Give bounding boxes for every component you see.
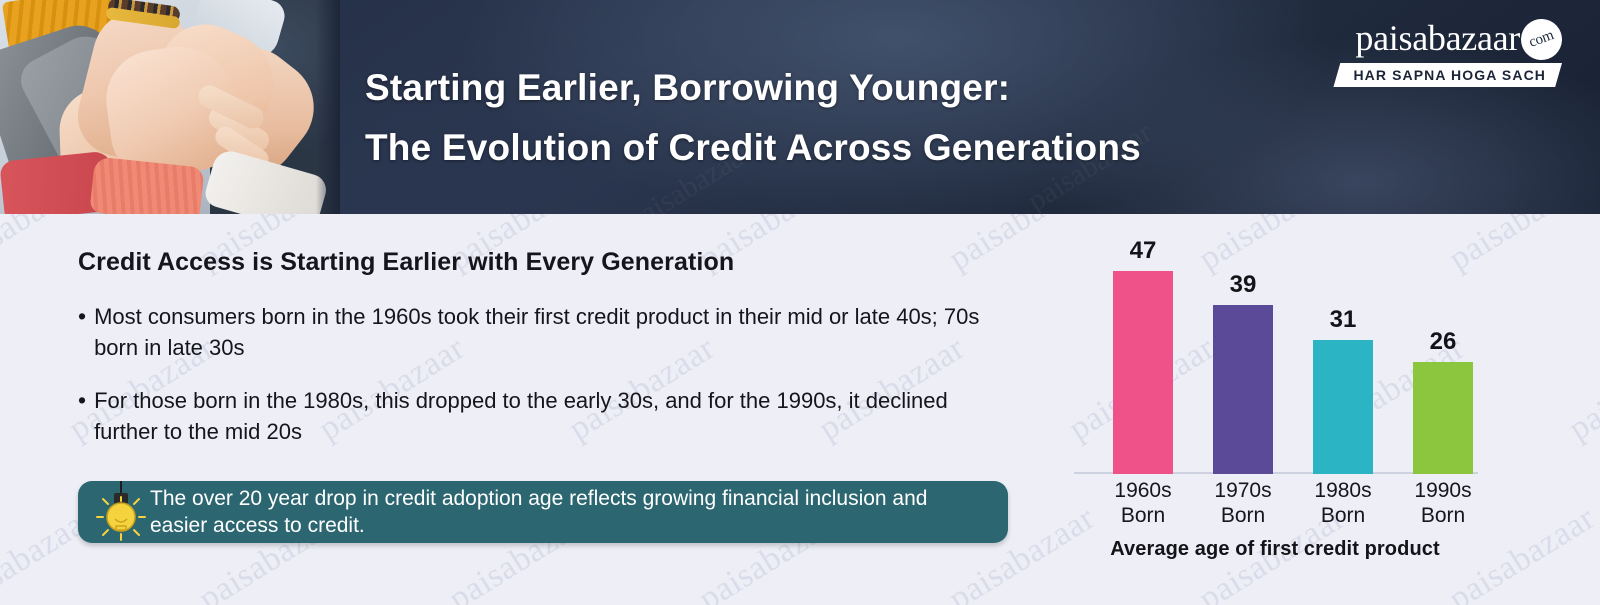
bar-value-label: 31 [1299,306,1387,334]
category-label-line: Born [1195,503,1291,528]
category-label: 1960sBorn [1095,478,1191,528]
infographic-root: paisabazaarpaisabazaarpaisabazaarpaisaba… [0,0,1600,605]
callout-text: The over 20 year drop in credit adoption… [150,485,1008,539]
category-label-line: Born [1295,503,1391,528]
section-heading: Credit Access is Starting Earlier with E… [78,248,1018,277]
bullet-text: Most consumers born in the 1960s took th… [94,301,1004,363]
bar[interactable] [1313,340,1373,474]
insight-callout: The over 20 year drop in credit adoption… [78,481,1008,543]
category-label-line: Born [1095,503,1191,528]
bar-group: 39 [1213,232,1273,474]
bar-group: 26 [1413,232,1473,474]
bullet-marker: • [78,301,86,332]
logo-wordmark-text: paisabazaar [1355,18,1520,58]
logo-tagline: HAR SAPNA HOGA SACH [1333,63,1562,87]
category-label: 1980sBorn [1295,478,1391,528]
bar-group: 47 [1113,232,1173,474]
hands-teamwork-photo [0,0,340,214]
header-title-block: Starting Earlier, Borrowing Younger: The… [365,58,1141,178]
category-label-line: 1970s [1195,478,1291,503]
category-label-line: 1990s [1395,478,1491,503]
watermark-text: paisabazaar [1562,329,1600,448]
category-label: 1970sBorn [1195,478,1291,528]
title-line-2: The Evolution of Credit Across Generatio… [365,118,1141,178]
photo-fade-edge [316,0,340,214]
bar-value-label: 39 [1199,271,1287,299]
paisabazaar-logo[interactable]: paisabazaar com HAR SAPNA HOGA SACH [1312,18,1562,87]
chart-category-labels: 1960sBorn1970sBorn1980sBorn1990sBorn [1060,478,1490,538]
bullet-item: • Most consumers born in the 1960s took … [78,301,1018,363]
bar[interactable] [1213,305,1273,474]
bar[interactable] [1113,271,1173,474]
bar-value-label: 26 [1399,328,1487,356]
category-label-line: 1980s [1295,478,1391,503]
logo-wordmark: paisabazaar com [1355,18,1562,58]
category-label-line: 1960s [1095,478,1191,503]
bar-chart: 47393126 1960sBorn1970sBorn1980sBorn1990… [1060,232,1490,572]
category-label-line: Born [1395,503,1491,528]
bar-value-label: 47 [1099,237,1187,265]
chart-caption: Average age of first credit product [1060,538,1490,561]
bar[interactable] [1413,362,1473,474]
left-content: Credit Access is Starting Earlier with E… [78,248,1018,469]
title-line-1: Starting Earlier, Borrowing Younger: [365,58,1141,118]
bullet-marker: • [78,385,86,416]
bullet-text: For those born in the 1980s, this droppe… [94,385,1004,447]
bullet-item: • For those born in the 1980s, this drop… [78,385,1018,447]
lightbulb-icon [92,481,150,543]
category-label: 1990sBorn [1395,478,1491,528]
chart-plot-area: 47393126 [1060,232,1490,474]
bar-group: 31 [1313,232,1373,474]
lightbulb-icon-svg [92,481,150,543]
logo-dotcom-badge: com [1515,13,1568,66]
